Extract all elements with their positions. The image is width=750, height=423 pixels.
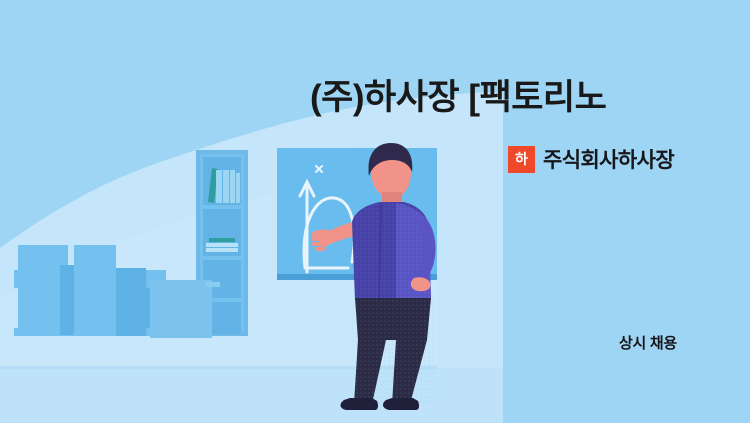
left-shoe [341,398,379,410]
page-title: (주)하사장 [팩토리노 [310,76,606,120]
books-second-shelf [206,238,238,252]
company-name: 주식회사하사장 [543,144,674,174]
banner-image: (주)하사장 [팩토리노 하 주식회사하사장 상시 채용 [0,0,750,423]
status-badge: 상시 채용 [619,332,677,353]
company-logo[interactable]: 하 주식회사하사장 [508,144,674,174]
office-illustration [0,0,750,423]
desk-front [150,280,220,338]
right-shoe [383,398,419,410]
company-badge-icon: 하 [508,146,535,173]
